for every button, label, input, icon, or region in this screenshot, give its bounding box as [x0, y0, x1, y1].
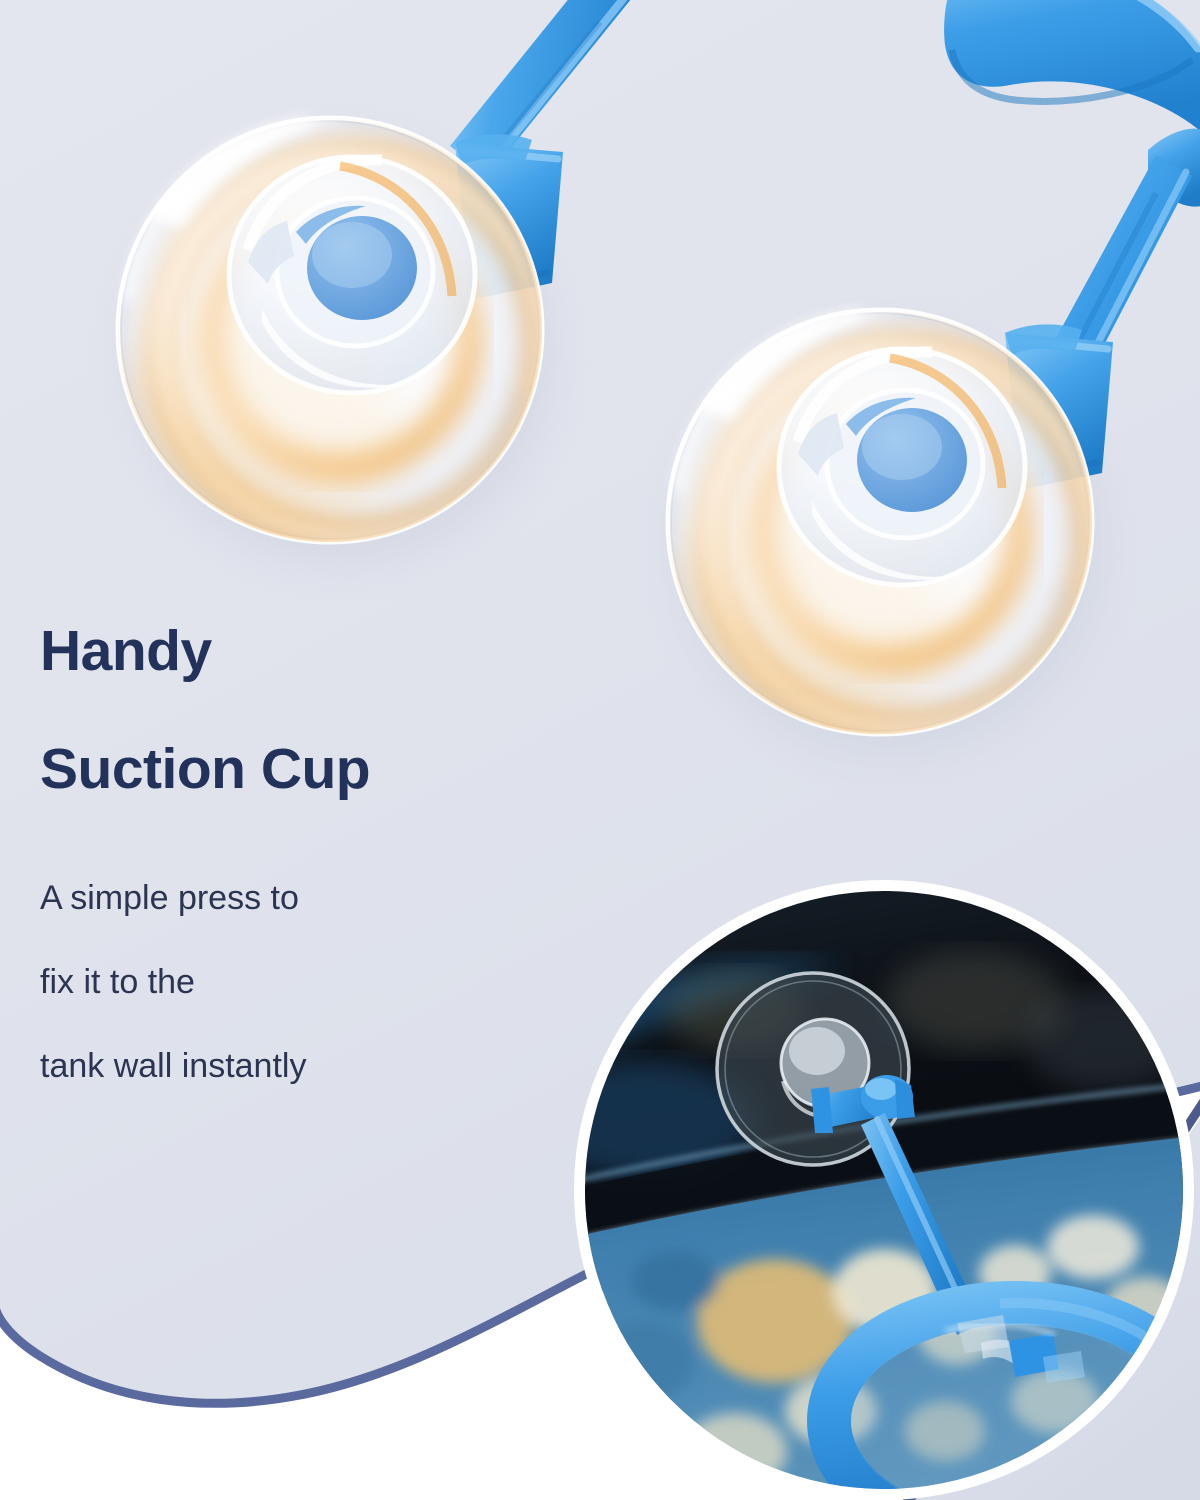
- photo-feeding-ring: [829, 1303, 1183, 1489]
- photo-illustration: [585, 891, 1183, 1489]
- body-line-1: A simple press to: [40, 856, 560, 940]
- marketing-banner: Handy Suction Cup A simple press to fix …: [0, 0, 1200, 1500]
- body-line-3: tank wall instantly: [40, 1024, 560, 1108]
- headline-line-2: Suction Cup: [40, 710, 560, 828]
- body-line-2: fix it to the: [40, 940, 560, 1024]
- headline-line-1: Handy: [40, 592, 560, 710]
- copy-block: Handy Suction Cup A simple press to fix …: [40, 592, 560, 1108]
- body-copy: A simple press to fix it to the tank wal…: [40, 856, 560, 1108]
- photo-clip: [585, 891, 1183, 1489]
- aquarium-application-photo: [574, 880, 1194, 1500]
